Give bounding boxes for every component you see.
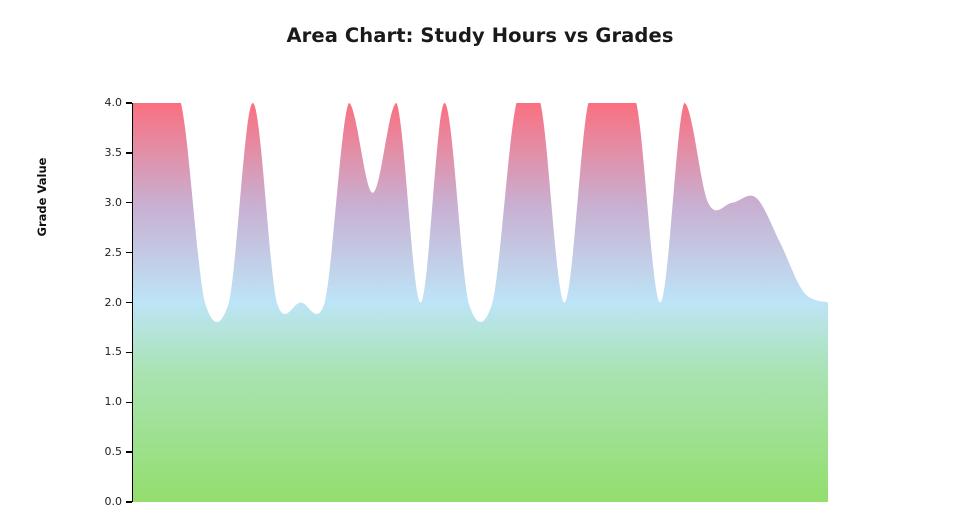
y-tick-label: 4.0	[94, 96, 122, 109]
area-series-svg	[133, 103, 828, 502]
y-tick-label: 1.5	[94, 345, 122, 358]
y-axis-label: Grade Value	[35, 117, 49, 277]
chart-title: Area Chart: Study Hours vs Grades	[0, 24, 960, 47]
area-chart-figure: Area Chart: Study Hours vs Grades Grade …	[0, 0, 960, 500]
y-tick-label: 3.0	[94, 196, 122, 209]
y-tick-label: 2.5	[94, 246, 122, 259]
y-tick-mark	[126, 252, 132, 253]
y-tick-label: 0.5	[94, 445, 122, 458]
y-tick-mark	[126, 402, 132, 403]
area-series-path	[133, 103, 828, 502]
y-tick-label: 1.0	[94, 395, 122, 408]
y-tick-mark	[126, 102, 132, 103]
y-tick-mark	[126, 202, 132, 203]
plot-area	[133, 103, 828, 502]
y-tick-label: 3.5	[94, 146, 122, 159]
y-tick-label: 0.0	[94, 495, 122, 508]
y-tick-mark	[126, 352, 132, 353]
y-tick-mark	[126, 152, 132, 153]
y-tick-label: 2.0	[94, 296, 122, 309]
y-tick-mark	[126, 302, 132, 303]
y-tick-mark	[126, 501, 132, 502]
y-tick-mark	[126, 451, 132, 452]
